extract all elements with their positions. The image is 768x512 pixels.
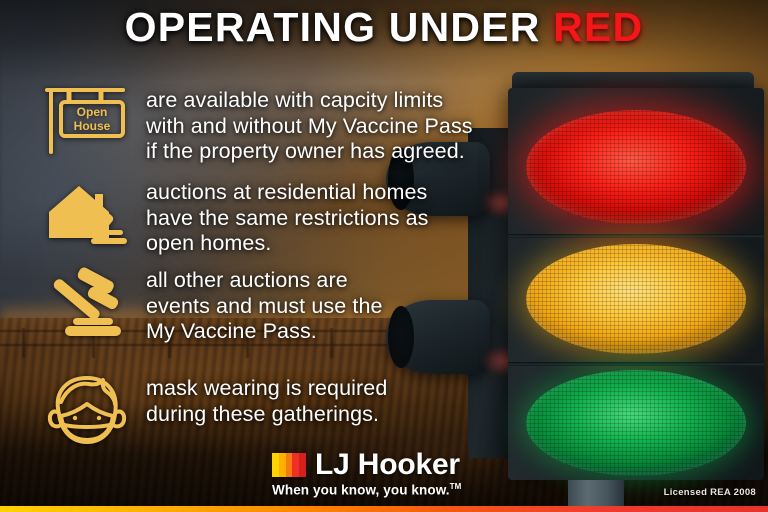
lamp-visor-hood-icon bbox=[386, 300, 490, 374]
text-line: have the same restrictions as bbox=[146, 206, 429, 232]
license-text: Licensed REA 2008 bbox=[664, 487, 756, 498]
info-row-other-auctions: all other auctions are events and must u… bbox=[28, 264, 383, 345]
traffic-light-housing bbox=[508, 88, 764, 480]
info-row-open-homes: Open House are available with capcity li… bbox=[28, 84, 473, 165]
info-text-open-homes: are available with capcity limits with a… bbox=[146, 84, 473, 165]
lj-hooker-mark-icon bbox=[272, 453, 306, 477]
icon-label-line-1: Open bbox=[77, 105, 108, 119]
brand-tagline: When you know, you know.TM bbox=[272, 482, 461, 498]
text-line: are available with capcity limits bbox=[146, 88, 473, 114]
face-mask-icon bbox=[28, 372, 146, 450]
brand-name: LJ Hooker bbox=[315, 450, 460, 480]
text-line: events and must use the bbox=[146, 294, 383, 320]
text-line: auctions at residential homes bbox=[146, 180, 429, 206]
text-line: open homes. bbox=[146, 231, 429, 257]
text-line: My Vaccine Pass. bbox=[146, 319, 383, 345]
open-house-sign-icon: Open House bbox=[28, 84, 146, 158]
traffic-light bbox=[508, 88, 764, 480]
info-row-mask-wearing: mask wearing is required during these ga… bbox=[28, 372, 387, 450]
info-row-residential-auctions: auctions at residential homes have the s… bbox=[28, 176, 429, 257]
text-line: during these gatherings. bbox=[146, 402, 387, 428]
text-line: with and without My Vaccine Pass bbox=[146, 114, 473, 140]
icon-label-line-2: House bbox=[74, 119, 111, 133]
trademark-symbol: TM bbox=[450, 482, 462, 491]
text-line: all other auctions are bbox=[146, 268, 383, 294]
title-highlight-text: RED bbox=[553, 4, 643, 50]
poster-canvas: OPERATING UNDER RED Open House are avail… bbox=[0, 0, 768, 512]
page-title: OPERATING UNDER RED bbox=[0, 4, 768, 51]
amber-lamp bbox=[526, 244, 746, 354]
gavel-icon bbox=[28, 264, 146, 340]
info-text-residential-auctions: auctions at residential homes have the s… bbox=[146, 176, 429, 257]
title-main-text: OPERATING UNDER bbox=[125, 4, 541, 50]
bottom-accent-bar bbox=[0, 506, 768, 512]
green-lamp bbox=[526, 370, 746, 476]
brand-logo: LJ Hooker When you know, you know.TM bbox=[272, 450, 461, 498]
info-text-other-auctions: all other auctions are events and must u… bbox=[146, 264, 383, 345]
red-lamp bbox=[526, 110, 746, 224]
house-with-gavel-icon bbox=[28, 176, 146, 250]
text-line: if the property owner has agreed. bbox=[146, 139, 473, 165]
brand-tagline-text: When you know, you know. bbox=[272, 483, 450, 498]
info-text-mask-wearing: mask wearing is required during these ga… bbox=[146, 372, 387, 427]
text-line: mask wearing is required bbox=[146, 376, 387, 402]
